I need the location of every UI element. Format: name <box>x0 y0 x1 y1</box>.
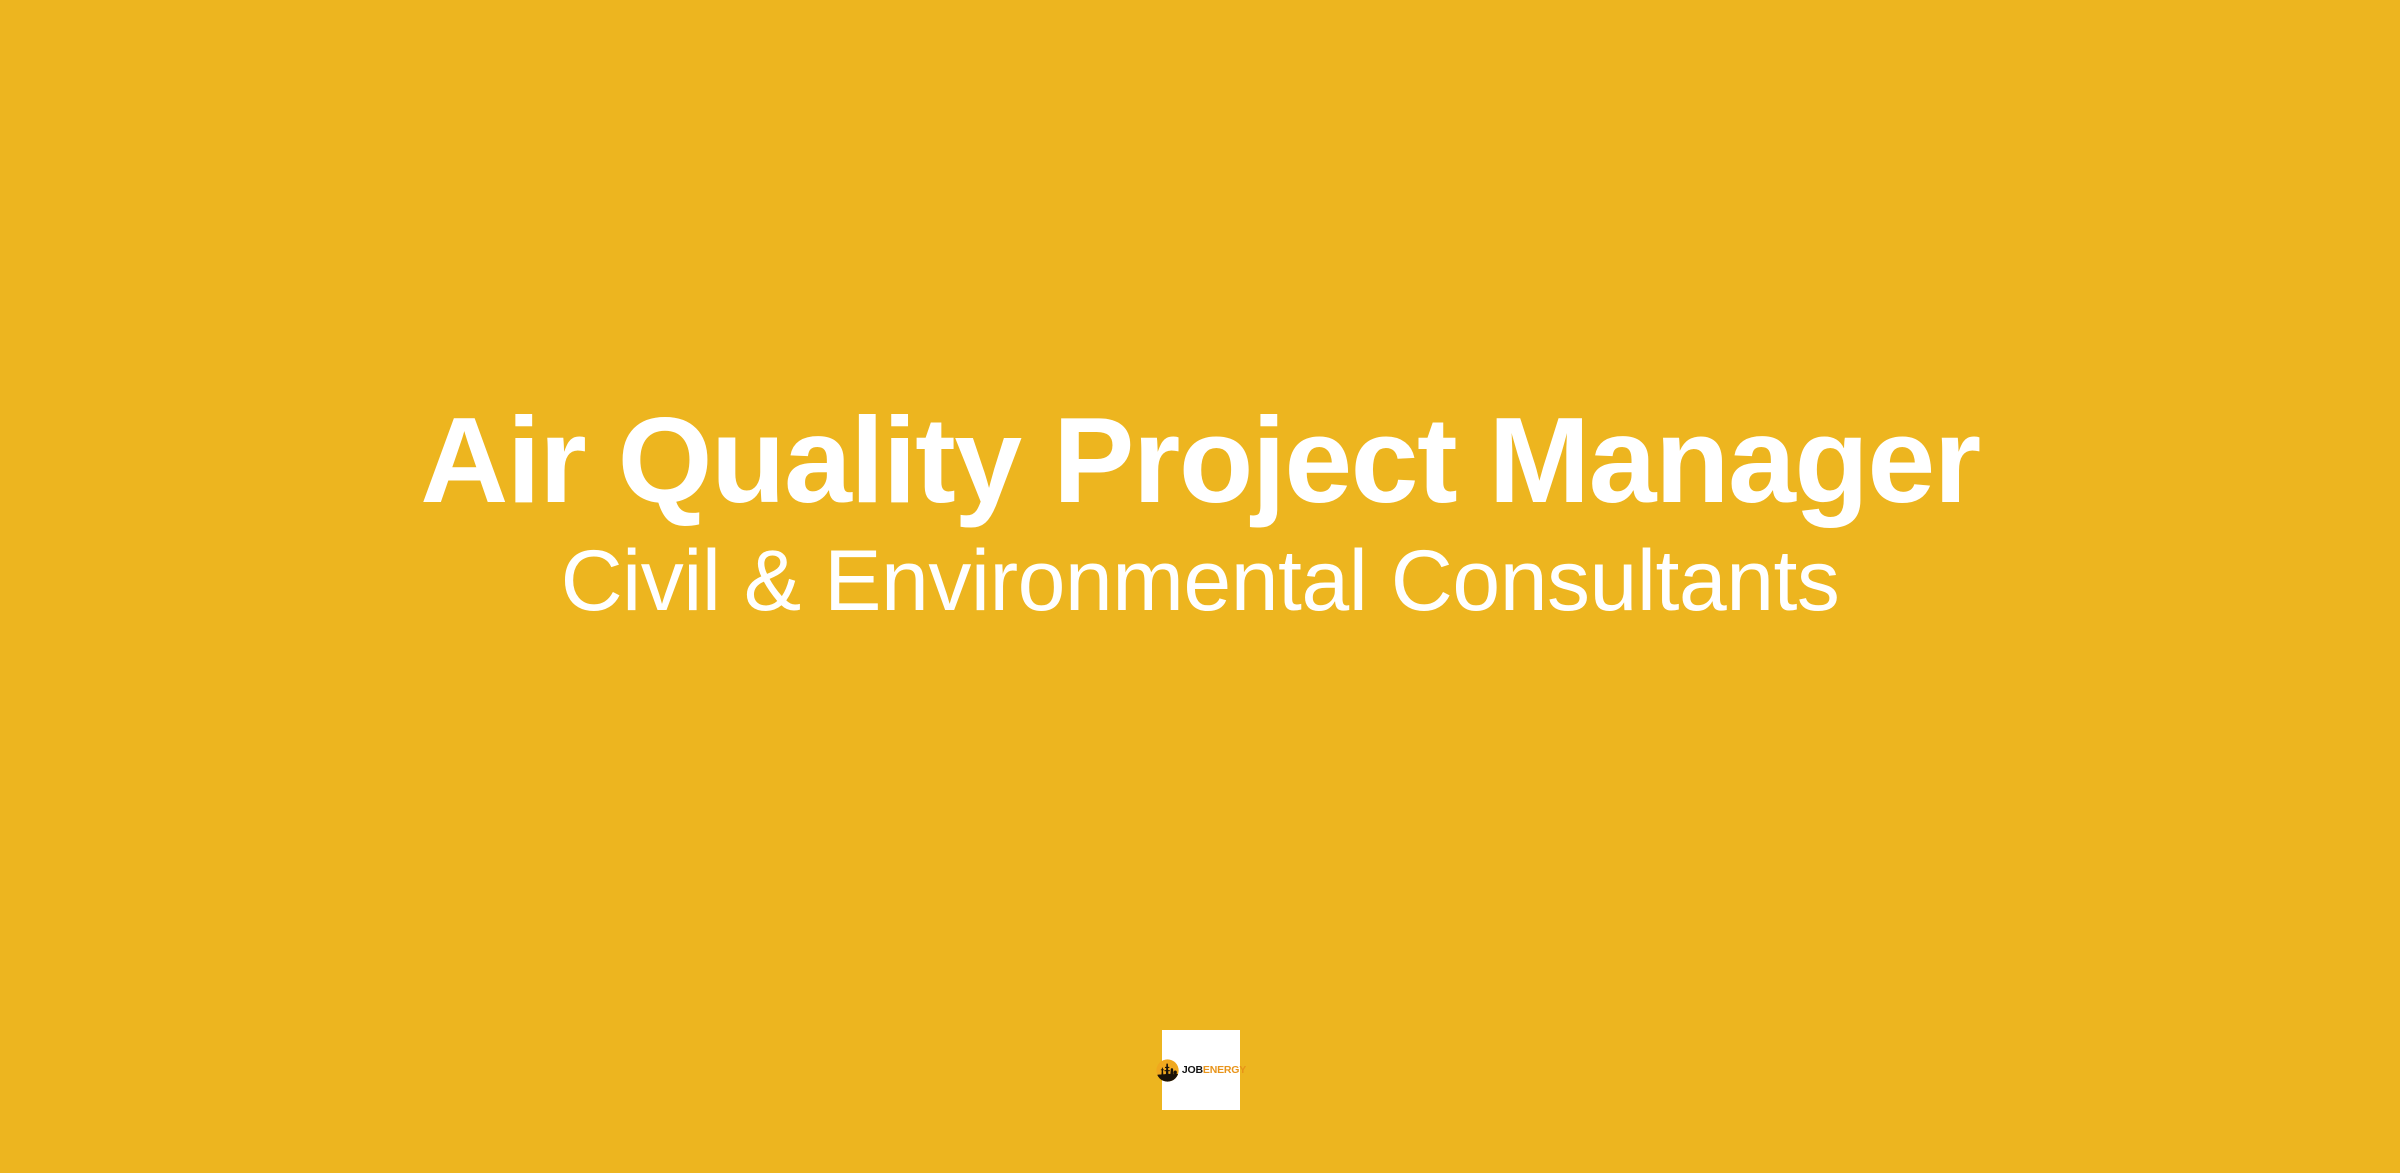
jobenergy-sun-icon <box>1156 1059 1179 1082</box>
brand-logo-card: JOBENERGY <box>1162 1030 1240 1110</box>
brand-wordmark: JOBENERGY <box>1182 1065 1246 1076</box>
company-name: Civil & Environmental Consultants <box>561 536 1840 626</box>
page-title: Air Quality Project Manager <box>420 398 1980 522</box>
job-posting-card: Air Quality Project Manager Civil & Envi… <box>0 0 2400 1173</box>
hero-text-block: Air Quality Project Manager Civil & Envi… <box>0 0 2400 1173</box>
brand-logo-lockup: JOBENERGY <box>1156 1059 1246 1082</box>
brand-wordmark-energy: ENERGY <box>1203 1065 1246 1076</box>
brand-wordmark-job: JOB <box>1182 1065 1203 1076</box>
